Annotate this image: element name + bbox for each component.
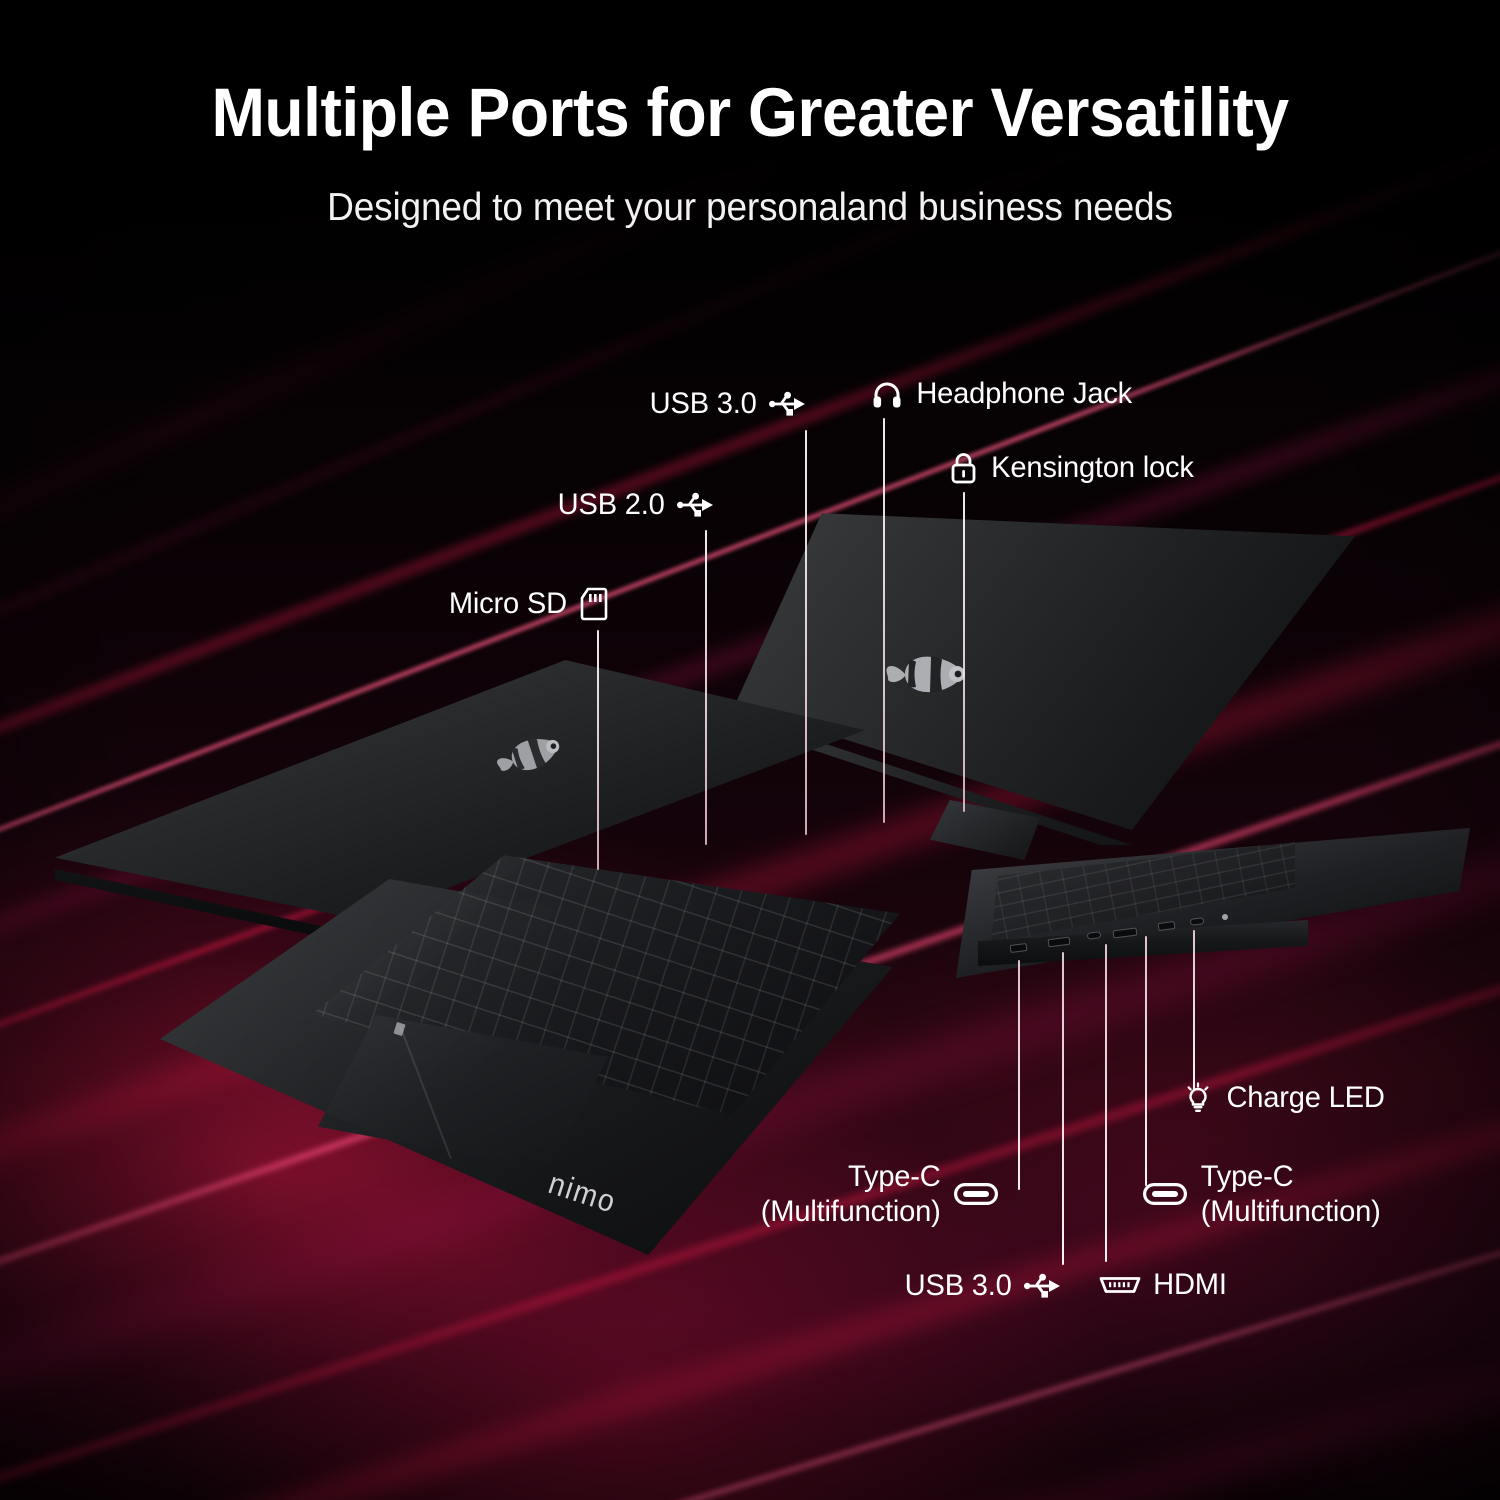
microsd-card-icon bbox=[580, 587, 608, 621]
callout-label: USB 2.0 bbox=[558, 487, 665, 522]
usb-type-c-icon bbox=[954, 1183, 998, 1205]
callout-label-secondary: (Multifunction) bbox=[1201, 1194, 1381, 1229]
leader-line-kensington-lock bbox=[963, 492, 965, 812]
leader-line-usb-30-top bbox=[805, 430, 807, 835]
callout-kensington-lock[interactable]: Kensington lock bbox=[950, 450, 1197, 485]
callout-label: Charge LED bbox=[1226, 1080, 1384, 1115]
leader-line-usb-20 bbox=[705, 530, 707, 845]
leader-line-headphone-jack bbox=[883, 418, 885, 823]
callout-label: Kensington lock bbox=[991, 450, 1194, 485]
usb-icon bbox=[677, 492, 715, 518]
usb-icon bbox=[1024, 1273, 1062, 1299]
callout-label: Type-C bbox=[761, 1159, 941, 1194]
leader-line-charge-led bbox=[1193, 930, 1195, 1090]
callout-label: USB 3.0 bbox=[905, 1268, 1012, 1303]
usb-icon bbox=[769, 391, 807, 417]
callout-usb-30-bottom[interactable]: USB 3.0 bbox=[903, 1268, 1062, 1303]
leader-line-usb-30-bottom bbox=[1062, 952, 1064, 1265]
hdmi-icon bbox=[1099, 1274, 1141, 1296]
callout-type-c-left[interactable]: Type-C (Multifunction) bbox=[758, 1159, 998, 1230]
leader-line-type-c-right bbox=[1145, 936, 1147, 1186]
callout-micro-sd[interactable]: Micro SD bbox=[447, 586, 608, 621]
callout-charge-led[interactable]: Charge LED bbox=[1183, 1080, 1387, 1115]
callout-headphone-jack[interactable]: Headphone Jack bbox=[872, 376, 1135, 411]
callout-label: USB 3.0 bbox=[650, 386, 757, 421]
callout-label: Micro SD bbox=[449, 586, 567, 621]
leader-line-type-c-left bbox=[1018, 960, 1020, 1190]
leader-line-hdmi bbox=[1105, 944, 1107, 1262]
callout-label: Headphone Jack bbox=[916, 376, 1132, 411]
callout-label-group: Type-C (Multifunction) bbox=[761, 1159, 941, 1230]
callout-label: Type-C bbox=[1201, 1159, 1381, 1194]
callout-usb-30-top[interactable]: USB 3.0 bbox=[648, 386, 807, 421]
callout-label-group: Type-C (Multifunction) bbox=[1201, 1159, 1381, 1230]
lightbulb-icon bbox=[1183, 1082, 1213, 1114]
callout-usb-20[interactable]: USB 2.0 bbox=[556, 487, 715, 522]
usb-type-c-icon bbox=[1143, 1183, 1187, 1205]
callout-hdmi[interactable]: HDMI bbox=[1099, 1267, 1228, 1302]
callout-type-c-right[interactable]: Type-C (Multifunction) bbox=[1143, 1159, 1383, 1230]
callout-label: HDMI bbox=[1153, 1267, 1227, 1302]
callout-label-secondary: (Multifunction) bbox=[761, 1194, 941, 1229]
page-subtitle: Designed to meet your personaland busine… bbox=[38, 186, 1463, 230]
page-title: Multiple Ports for Greater Versatility bbox=[53, 78, 1448, 148]
padlock-icon bbox=[950, 452, 977, 484]
leader-line-micro-sd bbox=[597, 630, 599, 870]
heading-block: Multiple Ports for Greater Versatility D… bbox=[0, 78, 1500, 230]
headphone-icon bbox=[872, 379, 902, 409]
product-feature-graphic: Multiple Ports for Greater Versatility D… bbox=[0, 0, 1500, 1500]
